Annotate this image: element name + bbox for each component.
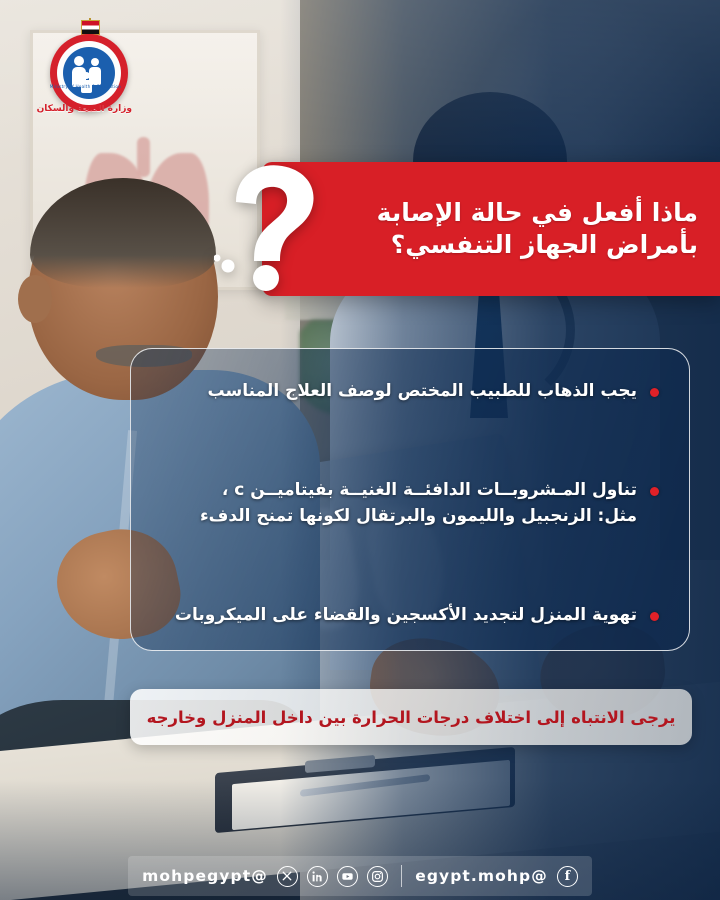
- logo-english-text: Ministry of Health & Population: [57, 84, 121, 89]
- shared-social-handle[interactable]: @mohpegypt: [142, 867, 268, 885]
- x-twitter-icon[interactable]: [277, 866, 298, 887]
- headline-banner: ماذا أفعل في حالة الإصابة بأمراض الجهاز …: [262, 162, 720, 296]
- advice-line-1: تناول المـشروبــات الدافئــة الغنيــة بف…: [222, 480, 637, 500]
- advice-line-1: يجب الذهاب للطبيب المختص لوصف العلاج الم…: [208, 381, 638, 401]
- logo-arabic-text: وزارة الصحة والسكان: [46, 104, 132, 114]
- infographic-poster: Ministry of Health & Population وزارة ال…: [0, 0, 720, 900]
- logo-blue-disc: [63, 47, 115, 99]
- linkedin-icon[interactable]: [307, 866, 328, 887]
- advice-text: تناول المـشروبــات الدافئــة الغنيــة بف…: [161, 478, 637, 529]
- advice-list: يجب الذهاب للطبيب المختص لوصف العلاج الم…: [161, 379, 659, 628]
- instagram-icon[interactable]: [367, 866, 388, 887]
- family-figure-adult-head: [74, 56, 84, 66]
- advice-card: يجب الذهاب للطبيب المختص لوصف العلاج الم…: [130, 348, 690, 651]
- social-footer-bar: f @egypt.mohp @mohpegypt: [128, 856, 592, 896]
- list-item: تهوية المنزل لتجديد الأكسجين والقضاء على…: [161, 603, 659, 629]
- flag-body: [81, 20, 100, 35]
- youtube-icon[interactable]: [337, 866, 358, 887]
- facebook-handle[interactable]: @egypt.mohp: [415, 867, 548, 885]
- footer-divider: [401, 865, 402, 887]
- red-dot-icon: [650, 487, 659, 496]
- facebook-icon[interactable]: f: [557, 866, 578, 887]
- mohp-logo: Ministry of Health & Population وزارة ال…: [38, 18, 142, 114]
- advice-text: تهوية المنزل لتجديد الأكسجين والقضاء على…: [161, 603, 637, 629]
- red-dot-icon: [650, 612, 659, 621]
- red-dot-icon: [650, 388, 659, 397]
- advice-text: يجب الذهاب للطبيب المختص لوصف العلاج الم…: [161, 379, 637, 405]
- patient-ear: [18, 275, 52, 323]
- family-figure-child-head: [83, 72, 90, 79]
- headline-line-1: ماذا أفعل في حالة الإصابة: [296, 197, 698, 230]
- list-item: يجب الذهاب للطبيب المختص لوصف العلاج الم…: [161, 379, 659, 405]
- list-item: تناول المـشروبــات الدافئــة الغنيــة بف…: [161, 478, 659, 529]
- warning-note-banner: يرجى الانتباه إلى اختلاف درجات الحرارة ب…: [130, 689, 692, 745]
- advice-line-1: تهوية المنزل لتجديد الأكسجين والقضاء على…: [175, 605, 637, 625]
- advice-line-2: مثل: الزنجبيل والليمون والبرتقال لكونها …: [161, 504, 637, 530]
- headline-line-2: بأمراض الجهاز التنفسي؟: [296, 229, 698, 262]
- warning-note-text: يرجى الانتباه إلى اختلاف درجات الحرارة ب…: [147, 708, 676, 727]
- family-figure-parent-head: [91, 58, 99, 66]
